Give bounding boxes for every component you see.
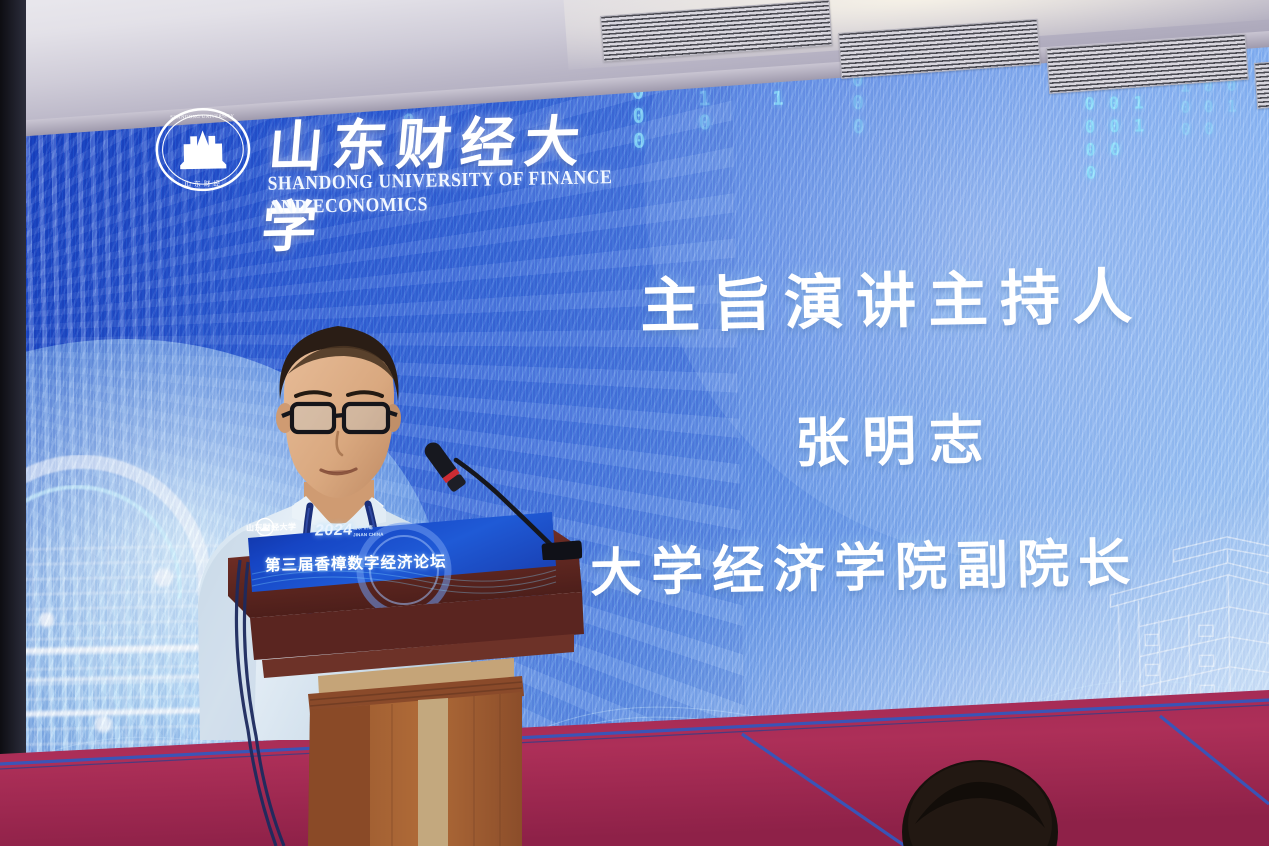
- slide-speaker-name: 张明志: [794, 395, 996, 478]
- svg-text:SHANDONG UNIVERSITY: SHANDONG UNIVERSITY: [170, 114, 234, 120]
- university-logo-block: SHANDONG UNIVERSITY 山东财经 山东财经大学 SHANDONG…: [154, 91, 626, 212]
- svg-text:山东财经: 山东财经: [184, 179, 223, 189]
- gooseneck-microphone: [392, 430, 582, 560]
- audience-head: [885, 736, 1075, 846]
- conference-stage-scene: 0 1 0 0 0 1 0 1 0 0 1 0 0 0 0 0 1 0 0 0 …: [0, 0, 1269, 846]
- slide-role-label: 主旨演讲主持人: [639, 248, 1145, 345]
- sdufe-seal-logo: SHANDONG UNIVERSITY 山东财经: [154, 101, 252, 199]
- university-name-en: SHANDONG UNIVERSITY OF FINANCE AND ECONO…: [267, 165, 626, 219]
